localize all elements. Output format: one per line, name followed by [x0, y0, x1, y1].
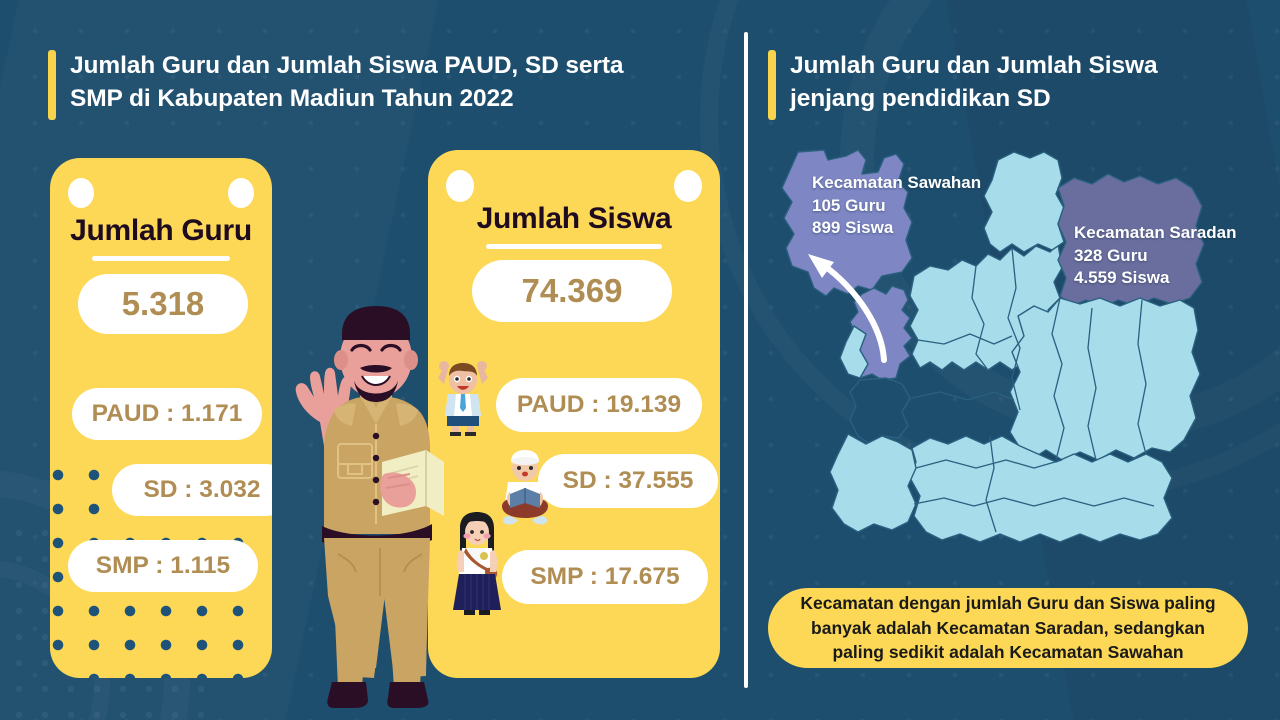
card-siswa-heading-rule [486, 244, 662, 249]
map-label-saradan: Kecamatan Saradan 328 Guru 4.559 Siswa [1074, 222, 1237, 290]
card-punch-hole-right [674, 170, 702, 202]
map-label-sawahan: Kecamatan Sawahan 105 Guru 899 Siswa [812, 172, 981, 240]
siswa-paud-pill: PAUD : 19.139 [496, 378, 702, 432]
map-region-north-spur [984, 152, 1064, 252]
card-punch-hole-left [68, 178, 94, 208]
card-jumlah-guru: Jumlah Guru 5.318 PAUD : 1.171 SD : 3.03… [50, 158, 272, 678]
map-region-central-east [1010, 298, 1200, 460]
student-boy-icon [432, 358, 494, 436]
guru-smp-pill: SMP : 1.115 [68, 540, 258, 592]
left-title: Jumlah Guru dan Jumlah Siswa PAUD, SD se… [48, 50, 623, 120]
student-girl-icon [448, 512, 506, 618]
left-title-text: Jumlah Guru dan Jumlah Siswa PAUD, SD se… [70, 50, 623, 115]
card-guru-heading: Jumlah Guru [50, 214, 272, 248]
vertical-divider [744, 32, 748, 688]
infographic-canvas: Jumlah Guru dan Jumlah Siswa PAUD, SD se… [0, 0, 1280, 720]
title-accent-bar [48, 50, 56, 120]
map-region-sw [830, 434, 916, 532]
card-punch-hole-left [446, 170, 474, 202]
card-siswa-heading: Jumlah Siswa [428, 202, 720, 236]
right-title-text: Jumlah Guru dan Jumlah Siswa jenjang pen… [790, 50, 1158, 115]
guru-total-pill: 5.318 [78, 274, 248, 334]
summary-note-text: Kecamatan dengan jumlah Guru dan Siswa p… [800, 591, 1215, 666]
right-title: Jumlah Guru dan Jumlah Siswa jenjang pen… [768, 50, 1158, 120]
siswa-sd-pill: SD : 37.555 [538, 454, 718, 508]
card-punch-hole-right [228, 178, 254, 208]
card-guru-heading-rule [92, 256, 230, 261]
siswa-total-pill: 74.369 [472, 260, 672, 322]
guru-paud-pill: PAUD : 1.171 [72, 388, 262, 440]
summary-note-box: Kecamatan dengan jumlah Guru dan Siswa p… [768, 588, 1248, 668]
guru-sd-pill: SD : 3.032 [112, 464, 272, 516]
siswa-smp-pill: SMP : 17.675 [502, 550, 708, 604]
map-region-dark-cutout [850, 378, 910, 444]
title-accent-bar [768, 50, 776, 120]
